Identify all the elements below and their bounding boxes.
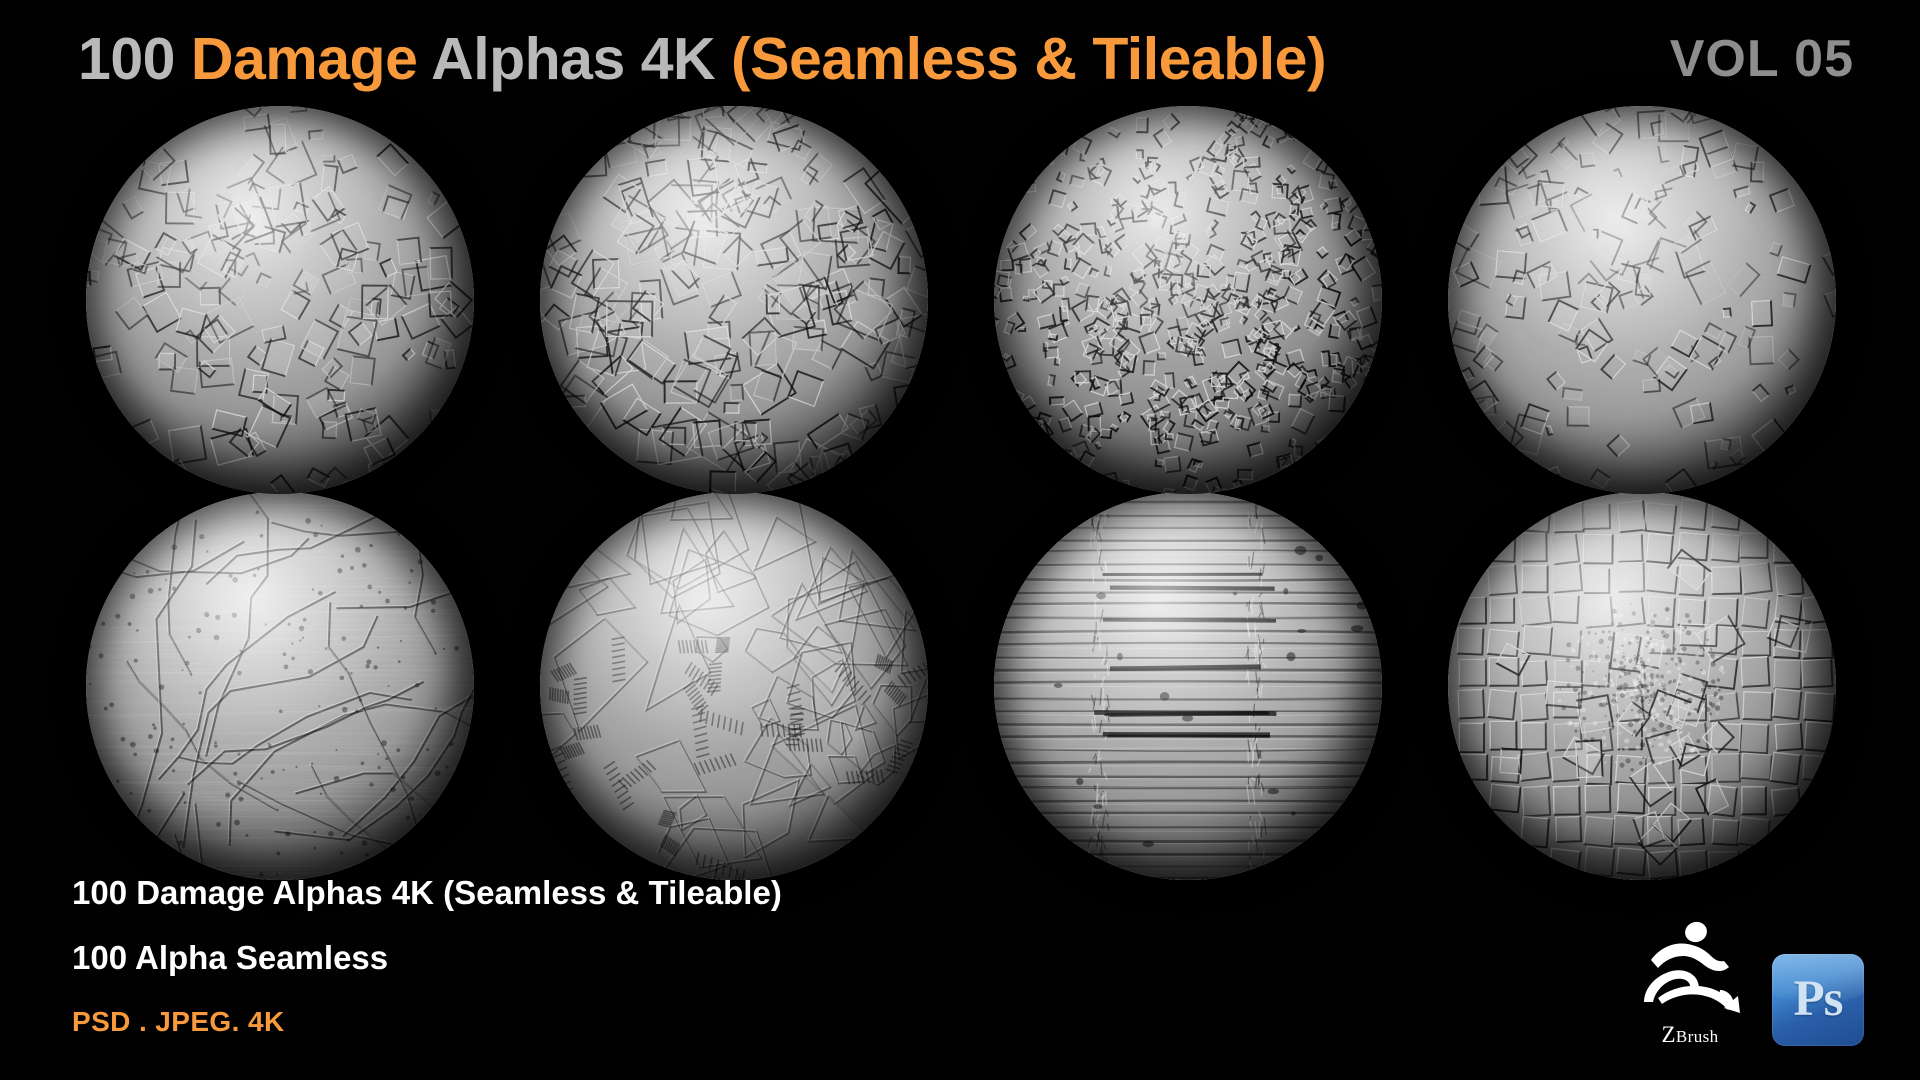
header: 100 Damage Alphas 4K (Seamless & Tileabl… (0, 0, 1920, 118)
sphere-preview-grid (0, 118, 1920, 880)
sphere-cell-2[interactable] (506, 110, 962, 490)
page-title: 100 Damage Alphas 4K (Seamless & Tileabl… (78, 30, 1326, 89)
sphere-cell-5[interactable] (52, 496, 508, 876)
sphere-preview-rubble-blocks-scattered[interactable] (86, 106, 474, 494)
sphere-preview-shattered-shards[interactable] (540, 492, 928, 880)
sphere-preview-fine-debris-dense[interactable] (994, 106, 1382, 494)
sphere-preview-impact-crater-debris[interactable] (1448, 106, 1836, 494)
footer-line-title: 100 Damage Alphas 4K (Seamless & Tileabl… (72, 876, 782, 909)
title-segment-damage: Damage (191, 26, 431, 92)
zbrush-figure-icon (1634, 918, 1746, 1016)
photoshop-logo: Ps (1772, 954, 1864, 1046)
volume-label: VOL 05 (1670, 33, 1868, 85)
sphere-preview-cobblestone-tiles[interactable] (1448, 492, 1836, 880)
sphere-preview-broken-bricks-large[interactable] (540, 106, 928, 494)
zbrush-logo: ZBrush (1634, 918, 1746, 1046)
title-segment-seamless: (Seamless & Tileable) (731, 26, 1326, 92)
sphere-cell-6[interactable] (506, 496, 962, 876)
software-logos: ZBrush Ps (1634, 918, 1864, 1046)
zbrush-wordmark-brush: Brush (1676, 1027, 1719, 1046)
sphere-preview-cracked-plates[interactable] (86, 492, 474, 880)
footer-line-count: 100 Alpha Seamless (72, 941, 782, 974)
footer-info: 100 Damage Alphas 4K (Seamless & Tileabl… (72, 876, 782, 1036)
title-segment-alphas: Alphas 4K (431, 26, 731, 92)
footer-line-format: PSD . JPEG. 4K (72, 1008, 782, 1036)
poster-canvas: 100 Damage Alphas 4K (Seamless & Tileabl… (0, 0, 1920, 1080)
photoshop-label: Ps (1772, 954, 1864, 1046)
sphere-cell-7[interactable] (960, 496, 1416, 876)
sphere-cell-1[interactable] (52, 110, 508, 490)
sphere-texture-7 (994, 492, 1382, 880)
sphere-texture-3 (994, 106, 1382, 494)
sphere-texture-8 (1448, 492, 1836, 880)
sphere-cell-4[interactable] (1414, 110, 1870, 490)
title-segment-count: 100 (78, 26, 191, 92)
zbrush-wordmark: ZBrush (1634, 1023, 1746, 1046)
sphere-texture-2 (540, 106, 928, 494)
sphere-texture-5 (86, 492, 474, 880)
sphere-texture-1 (86, 106, 474, 494)
sphere-texture-6 (540, 492, 928, 880)
sphere-preview-wood-planks-splintered[interactable] (994, 492, 1382, 880)
sphere-texture-4 (1448, 106, 1836, 494)
sphere-cell-8[interactable] (1414, 496, 1870, 876)
sphere-cell-3[interactable] (960, 110, 1416, 490)
zbrush-wordmark-z: Z (1661, 1022, 1675, 1047)
